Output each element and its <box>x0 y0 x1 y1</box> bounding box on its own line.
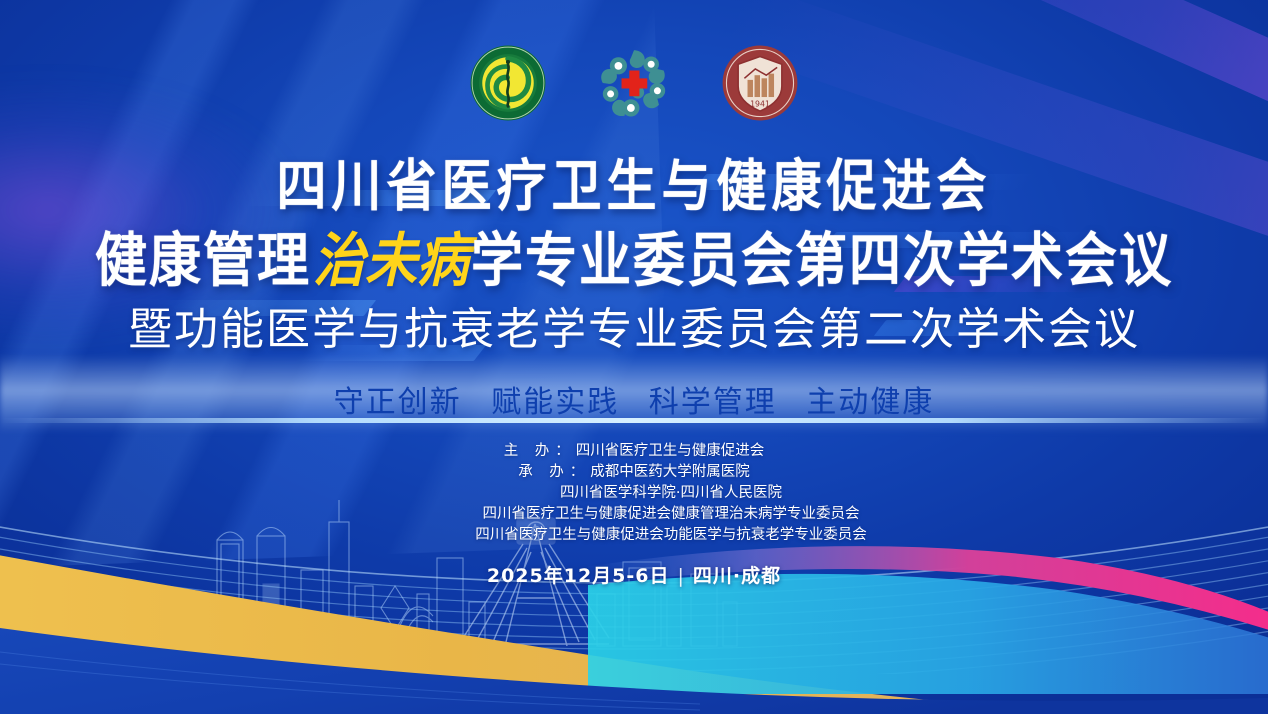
organizer-value: 四川省医学科学院·四川省人民医院 <box>560 485 782 501</box>
date-location-separator: | <box>678 565 685 587</box>
title-line-1: 四川省医疗卫生与健康促进会 <box>0 142 1268 223</box>
sichuan-health-promotion-association-emblem <box>469 44 547 122</box>
title-line-2-part1: 健康管理 <box>95 228 311 295</box>
slogan-phrase-2: 赋能实践 <box>491 385 619 420</box>
organizers-block: 主 办：四川省医疗卫生与健康促进会 承 办：成都中医药大学附属医院 四川省医学科… <box>0 441 1268 546</box>
organizer-row: 四川省医疗卫生与健康促进会功能医学与抗衰老学专业委员会 <box>0 525 1268 546</box>
organizer-row: 承 办：成都中医药大学附属医院 <box>0 462 1268 483</box>
organizer-value: 四川省医疗卫生与健康促进会功能医学与抗衰老学专业委员会 <box>475 527 867 543</box>
red-cross-emblem <box>595 44 673 122</box>
organization-logos: 1941 <box>0 44 1268 122</box>
organizer-row: 四川省医疗卫生与健康促进会健康管理治未病学专业委员会 <box>0 504 1268 525</box>
pink-cyan-ribbon-wave <box>588 524 1268 694</box>
organizer-value: 四川省医疗卫生与健康促进会健康管理治未病学专业委员会 <box>483 506 860 522</box>
slogan-phrase-4: 主动健康 <box>806 385 934 420</box>
title-line-2-part2: 学专业委员会第四次学术会议 <box>471 228 1173 295</box>
conference-date: 2025年12月5-6日 <box>487 565 670 587</box>
date-location-bar: 2025年12月5-6日|四川·成都 <box>0 561 1268 588</box>
conference-slogan: 守正创新 赋能实践 科学管理 主动健康 <box>0 377 1268 421</box>
title-line-3: 暨功能医学与抗衰老学专业委员会第二次学术会议 <box>0 293 1268 357</box>
organizer-value: 四川省医疗卫生与健康促进会 <box>576 443 765 459</box>
slogan-phrase-3: 科学管理 <box>649 385 777 420</box>
chengdu-university-tcm-hospital-emblem: 1941 <box>721 44 799 122</box>
organizer-label: 主 办： <box>504 443 576 459</box>
title-line-2-highlight: 治未病 <box>311 227 471 295</box>
emblem-year: 1941 <box>750 99 770 108</box>
conference-location: 四川·成都 <box>693 565 781 587</box>
title-line-2: 健康管理治未病学专业委员会第四次学术会议 <box>0 214 1268 298</box>
organizer-row: 四川省医学科学院·四川省人民医院 <box>0 483 1268 504</box>
slogan-phrase-1: 守正创新 <box>334 385 462 420</box>
organizer-value: 成都中医药大学附属医院 <box>590 464 750 480</box>
conference-banner: 1941 四川省医疗卫生与健康促进会 健康管理治未病学专业委员会第四次学术会议 … <box>0 0 1268 714</box>
organizer-label: 承 办： <box>518 464 590 480</box>
organizer-row: 主 办：四川省医疗卫生与健康促进会 <box>0 441 1268 462</box>
deep-blue-foreground-wave <box>0 594 1268 714</box>
